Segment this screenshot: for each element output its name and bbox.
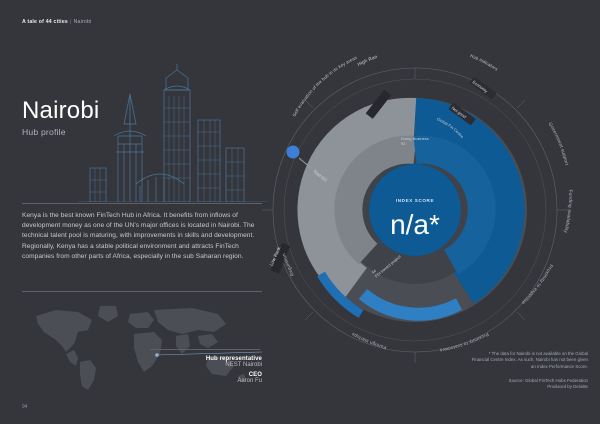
breadcrumb: A tale of 44 cities|Nairobi <box>22 19 91 25</box>
skyline-illustration <box>78 52 268 202</box>
annotation-hub-indicators: Hub indicators <box>469 53 499 72</box>
radial-chart: INDEX SCORE n/a* Nairobi High Rank Low R… <box>245 22 595 382</box>
divider-top <box>22 203 262 204</box>
segment-label-economy: Economy <box>469 77 496 100</box>
breadcrumb-separator: | <box>70 19 72 25</box>
annotation-self-evaluation: Self evaluation of the hub in its key ar… <box>292 55 359 118</box>
hubrep-divider <box>150 349 260 350</box>
page-root: A tale of 44 cities|Nairobi <box>0 0 600 424</box>
svg-text:High Rank: High Rank <box>245 22 378 67</box>
source-line-2: Produced by Deloitte <box>470 384 588 390</box>
body-paragraph: Kenya is the best known FinTech Hub in A… <box>22 211 265 262</box>
high-rank-badge: High Rank <box>245 22 391 119</box>
source-block: Source: Global FinTech Hubs Federation P… <box>470 378 588 391</box>
axis-label-proximity-to-customers: Proximity to customers <box>439 332 490 353</box>
breadcrumb-series: A tale of 44 cities <box>22 19 68 25</box>
hub-representative-block: Hub representative NEST Nairobi CEO Aaro… <box>142 356 262 388</box>
breadcrumb-city: Nairobi <box>74 19 92 25</box>
axis-label-foreign-startups: Foreign startups <box>350 331 386 350</box>
page-subtitle: Hub profile <box>22 127 99 137</box>
axis-label-proximity-to-expertise: Proximity to expertise <box>520 264 553 306</box>
page-title: Nairobi <box>22 99 99 123</box>
footnote: * The data for Nairobi is not available … <box>470 351 588 370</box>
ceo-value: Aaron Fu <box>142 378 262 384</box>
page-title-block: Nairobi Hub profile <box>22 99 99 137</box>
nairobi-marker-dot[interactable] <box>287 146 300 159</box>
axis-label-government-support: Government support <box>548 121 570 166</box>
hub-rep-value: NEST Nairobi <box>142 362 262 368</box>
page-number: 94 <box>22 404 28 410</box>
index-score-value: n/a* <box>390 209 440 240</box>
high-rank-label: High Rank <box>245 22 378 67</box>
index-score-label: INDEX SCORE <box>396 198 434 203</box>
divider-bottom <box>22 291 262 292</box>
axis-label-funding-availability: Funding availability <box>563 190 573 234</box>
